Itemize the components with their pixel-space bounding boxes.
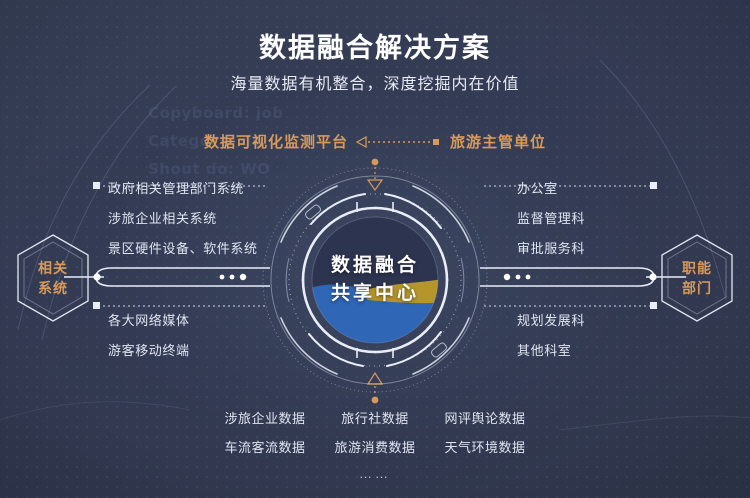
vignette-overlay bbox=[0, 0, 750, 498]
infographic-canvas: Copyboard: job Category: de Shout do: WO… bbox=[0, 0, 750, 498]
